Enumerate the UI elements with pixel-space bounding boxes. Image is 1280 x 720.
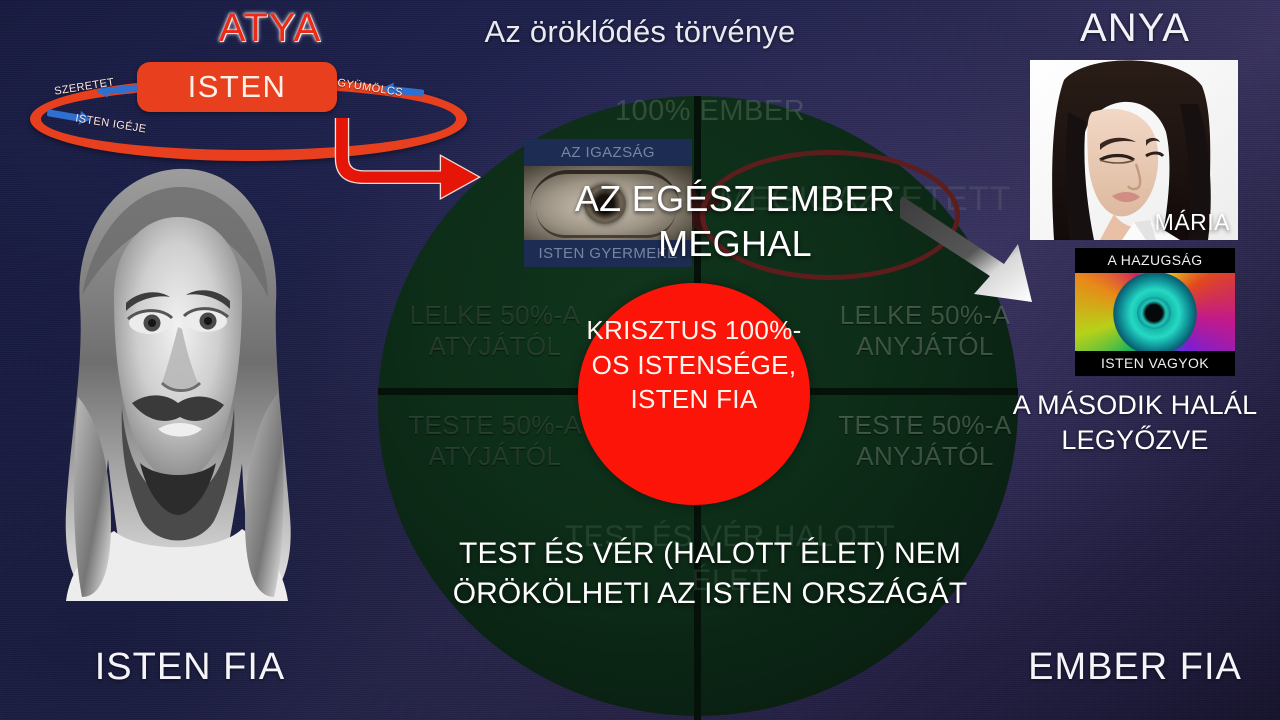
god-label-box: ISTEN [137,62,337,112]
circle-bottom-sentence: TEST ÉS VÉR (HALOTT ÉLET) NEM ÖRÖKÖLHETI… [440,534,980,613]
center-red-ellipse-text: KRISZTUS 100%-OS ISTENSÉGE, ISTEN FIA [578,313,810,417]
overlay-headline: AZ EGÉSZ EMBER MEGHAL [520,176,950,266]
eye-caption-top: AZ IGAZSÁG [524,139,692,166]
colorful-eye-photo [1075,273,1235,351]
quadrant-bottom-left-label: TESTE 50%-A ATYJÁTÓL [390,410,600,471]
mother-heading: ANYA [1000,6,1270,51]
gray-white-arrow-icon [900,190,1090,315]
second-death-text: A MÁSODIK HALÁL LEGYŐZVE [1000,388,1270,458]
father-heading: ATYA [150,6,390,51]
jesus-portrait [22,145,332,615]
god-label-text: ISTEN [137,62,337,112]
slide-canvas: Az öröklődés törvénye 100% EMBER MEGIGAZ… [0,0,1280,720]
father-bottom-label: ISTEN FIA [40,646,340,689]
center-red-ellipse: KRISZTUS 100%-OS ISTENSÉGE, ISTEN FIA [578,283,810,505]
red-elbow-arrow-icon [330,118,530,218]
colorful-eye-caption-top: A HAZUGSÁG [1075,248,1235,273]
mother-bottom-label: EMBER FIA [1000,646,1270,689]
circle-top-label: 100% EMBER [560,95,860,128]
maria-label: MÁRIA [1155,209,1230,236]
quadrant-bottom-right-label: TESTE 50%-A ANYJÁTÓL [820,410,1030,471]
quadrant-top-left-label: LELKE 50%-A ATYJÁTÓL [390,300,600,361]
colorful-eye-pupil [1137,297,1171,329]
colorful-eye-image: A HAZUGSÁG ISTEN VAGYOK [1075,248,1235,376]
colorful-eye-caption-bottom: ISTEN VAGYOK [1075,351,1235,376]
